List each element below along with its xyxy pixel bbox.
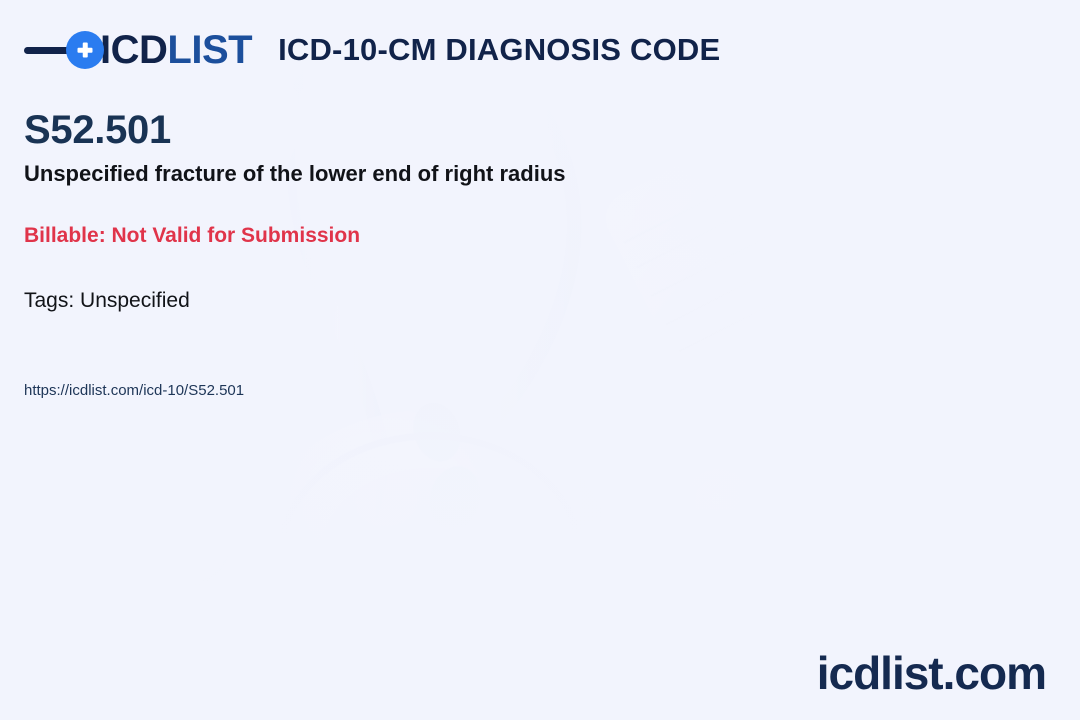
diagnosis-description: Unspecified fracture of the lower end of… bbox=[24, 160, 924, 188]
header-bar: ICDLIST ICD-10-CM DIAGNOSIS CODE bbox=[0, 0, 1080, 100]
icd-code-card: ICDLIST ICD-10-CM DIAGNOSIS CODE S52.501… bbox=[0, 0, 1080, 720]
tags-line: Tags: Unspecified bbox=[24, 288, 924, 314]
code-details: S52.501 Unspecified fracture of the lowe… bbox=[24, 108, 924, 401]
source-url[interactable]: https://icdlist.com/icd-10/S52.501 bbox=[24, 382, 924, 401]
diagnosis-code: S52.501 bbox=[24, 108, 924, 153]
site-watermark: icdlist.com bbox=[817, 650, 1046, 696]
page-title: ICD-10-CM DIAGNOSIS CODE bbox=[278, 32, 720, 68]
brand-logo[interactable]: ICDLIST bbox=[24, 30, 252, 70]
logo-word-list: LIST bbox=[167, 28, 252, 72]
plus-icon bbox=[66, 31, 104, 69]
billable-status: Billable: Not Valid for Submission bbox=[24, 223, 924, 249]
dash-icon bbox=[24, 47, 72, 54]
logo-word-icd: ICD bbox=[100, 28, 167, 72]
logo-wordmark: ICDLIST bbox=[100, 30, 252, 70]
